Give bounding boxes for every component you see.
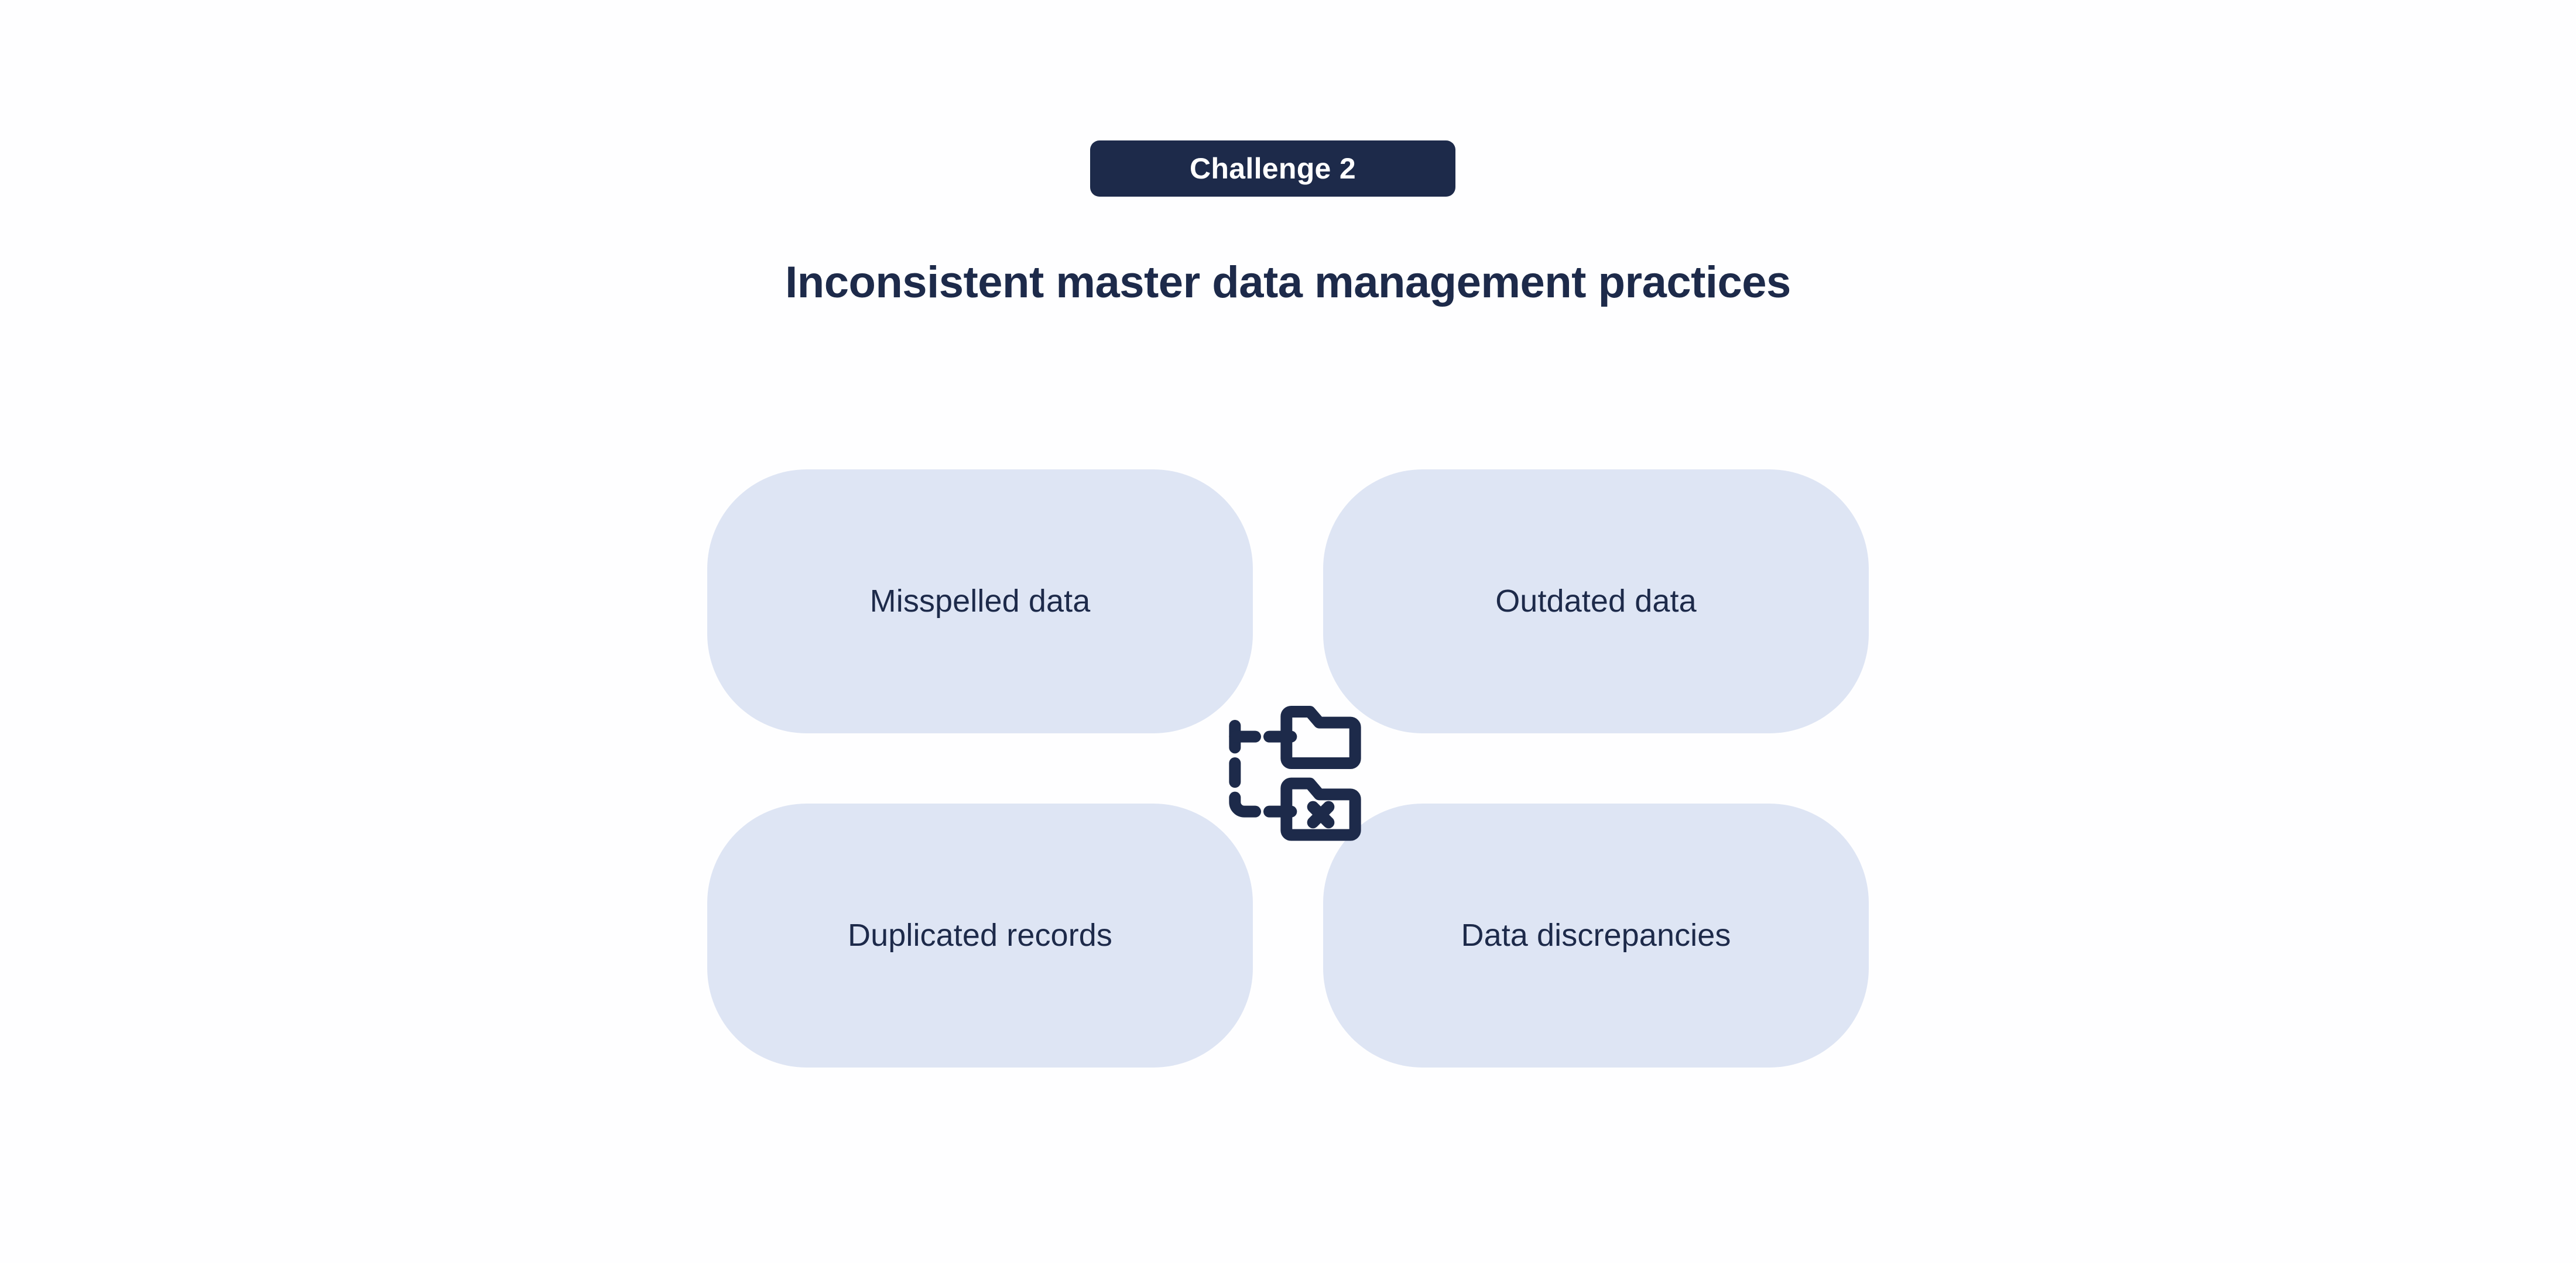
challenge-item-data-discrepancies[interactable]: Data discrepancies [1323,804,1869,1068]
challenge-item-misspelled-data[interactable]: Misspelled data [707,469,1253,733]
folder-tree-error-icon [1213,693,1363,843]
challenge-item-label: Outdated data [1495,582,1697,620]
slide-canvas: Challenge 2 Inconsistent master data man… [0,0,2576,1263]
challenge-item-label: Duplicated records [848,917,1112,955]
tree-connector-bottom-elbow [1235,798,1255,812]
challenge-badge: Challenge 2 [1090,140,1455,197]
challenge-item-label: Misspelled data [870,582,1091,620]
challenge-badge-label: Challenge 2 [1190,154,1356,183]
challenge-item-outdated-data[interactable]: Outdated data [1323,469,1869,733]
folder-tree-error-icon-svg [1213,693,1363,843]
slide-title: Inconsistent master data management prac… [0,258,2576,307]
challenge-item-label: Data discrepancies [1461,917,1731,955]
challenge-item-duplicated-records[interactable]: Duplicated records [707,804,1253,1068]
